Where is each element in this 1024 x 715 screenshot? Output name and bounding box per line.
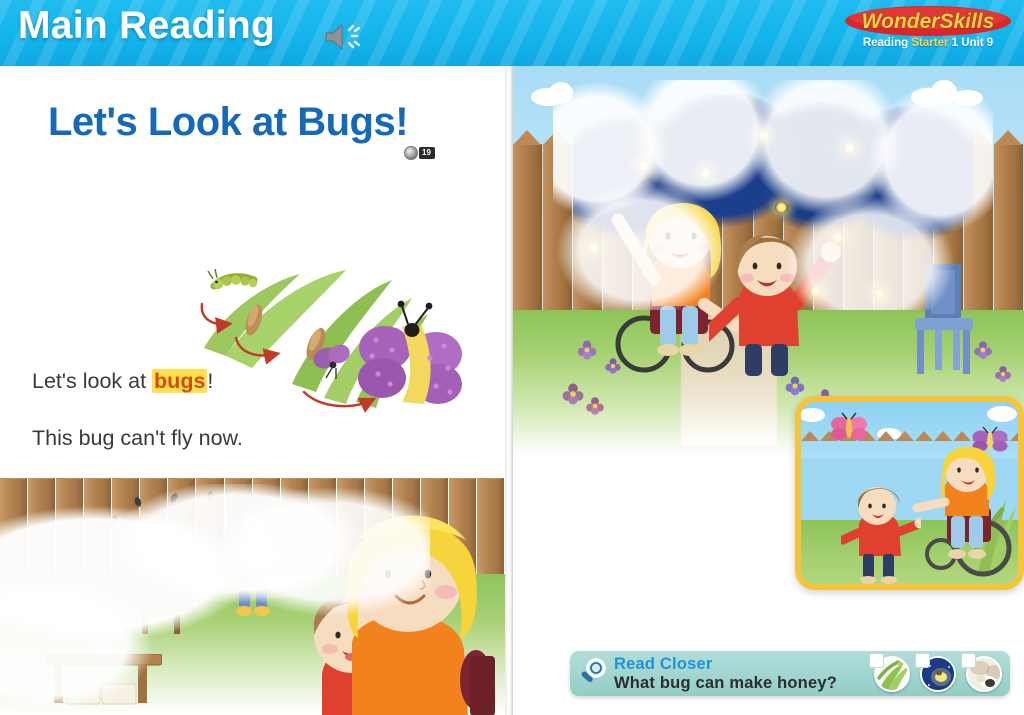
- highlight-bugs[interactable]: bugs: [152, 369, 207, 393]
- read-closer-bar: Read Closer What bug can make honey?: [570, 651, 1010, 696]
- firefly-icon: [775, 202, 788, 213]
- firefly-icon: [699, 168, 712, 179]
- page-title: Main Reading: [18, 4, 275, 48]
- option-mantis[interactable]: [871, 654, 911, 694]
- left-page: Let's Look at Bugs! 19: [0, 66, 505, 715]
- reading-app: Main Reading WonderSkills: [0, 0, 1024, 715]
- inset-illustration: [795, 396, 1024, 590]
- wonderskills-logo: WonderSkills: [842, 2, 1014, 40]
- firefly-icon: [831, 232, 844, 243]
- option-firefly-checkbox[interactable]: [915, 653, 930, 668]
- svg-text:WonderSkills: WonderSkills: [862, 10, 995, 33]
- left-p1-line1: Let's look at bugs!: [32, 367, 243, 396]
- left-p1-post: !: [207, 369, 213, 393]
- speaker-icon[interactable]: [322, 22, 368, 52]
- firefly-icon: [809, 286, 822, 297]
- firefly-icon: [637, 160, 650, 171]
- firefly-icon: [843, 142, 856, 153]
- firefly-icon: [587, 242, 600, 253]
- firefly-icon: [873, 288, 886, 299]
- inset-girl-wheelchair: [911, 442, 1021, 582]
- option-firefly[interactable]: [917, 654, 957, 694]
- boy-waving: [709, 224, 849, 376]
- option-bee-checkbox[interactable]: [961, 653, 976, 668]
- lesson-title: Let's Look at Bugs!: [48, 100, 408, 145]
- option-bee[interactable]: [963, 654, 1003, 694]
- left-p1-pre: Let's look at: [32, 369, 152, 393]
- magnifier-icon: [578, 657, 608, 687]
- cloud-icon: [799, 408, 825, 422]
- track-disc-icon: [404, 146, 418, 160]
- cloud-icon: [987, 406, 1017, 422]
- page-divider: [505, 66, 513, 715]
- left-p1-line2: This bug can't fly now.: [32, 424, 243, 453]
- read-closer-options: [871, 654, 1003, 694]
- option-mantis-checkbox[interactable]: [869, 653, 884, 668]
- blue-chair: [905, 258, 985, 376]
- brand-logo-block: WonderSkills Reading Starter 1 Unit 9: [838, 2, 1018, 64]
- right-page: This bug is bright at night. Bugs can do…: [513, 66, 1024, 715]
- cloud-icon: [549, 82, 573, 104]
- pink-butterfly-icon: [829, 412, 869, 444]
- inset-boy: [841, 480, 921, 586]
- track-number: 19: [419, 147, 435, 159]
- app-header: Main Reading WonderSkills: [0, 0, 1024, 66]
- bee-scene-soft-haze: [0, 484, 430, 709]
- firefly-icon: [757, 130, 770, 141]
- beekeeper-honey-illustration: [0, 478, 505, 715]
- audio-track-badge[interactable]: 19: [404, 146, 435, 160]
- read-closer-label: Read Closer: [614, 655, 713, 674]
- read-closer-question: What bug can make honey?: [614, 674, 837, 693]
